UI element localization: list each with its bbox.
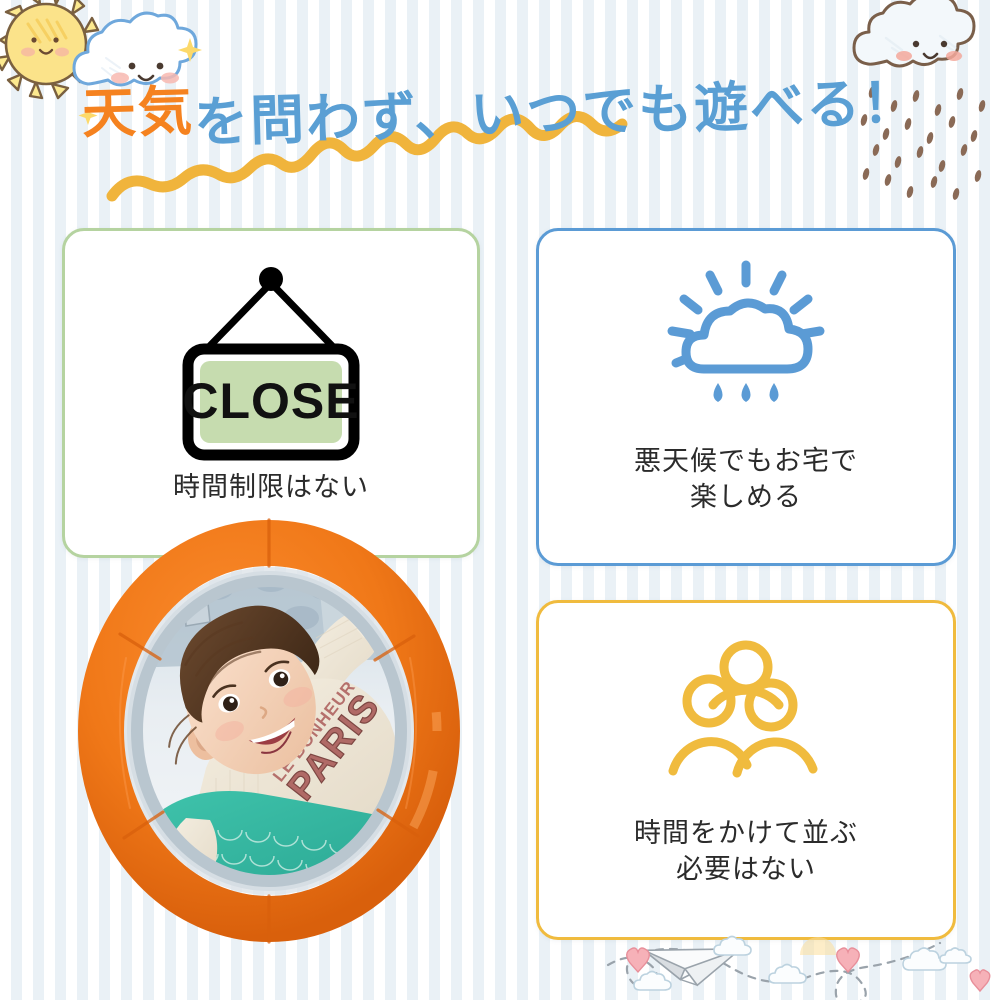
poster-canvas: 天気を問わず、いつでも遊べる！ CLOSE 時間制限はない (0, 0, 1000, 1000)
mini-sun-doodle (800, 937, 836, 955)
child-in-play-tunnel-photo: LE BONHEUR PARIS (66, 518, 472, 948)
